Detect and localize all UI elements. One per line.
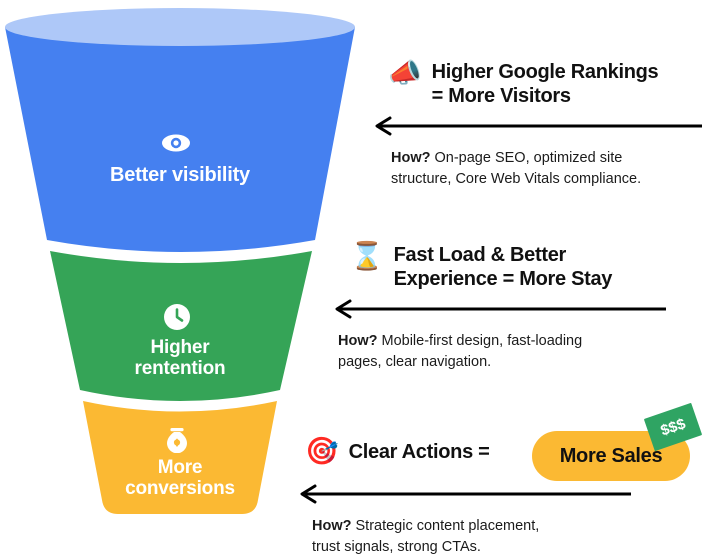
eye-icon bbox=[160, 130, 192, 156]
hourglass-icon: ⌛ bbox=[350, 243, 384, 270]
how-label-experience: How? bbox=[338, 333, 377, 349]
how-line2-sales: trust signals, strong CTAs. bbox=[312, 539, 481, 555]
stage-heading-sales-line1: Clear Actions = bbox=[349, 440, 490, 464]
stage-heading-rankings-text: Higher Google Rankings = More Visitors bbox=[432, 60, 659, 108]
stage-heading-experience: ⌛ Fast Load & Better Experience = More S… bbox=[350, 243, 612, 291]
stage-heading-experience-text: Fast Load & Better Experience = More Sta… bbox=[394, 243, 613, 291]
how-text-experience: How? Mobile-first design, fast-loading p… bbox=[338, 331, 668, 372]
arrow-left-sales bbox=[297, 484, 634, 504]
dart-target-icon: 🎯 bbox=[305, 438, 339, 465]
how-text-rankings: How? On-page SEO, optimized site structu… bbox=[391, 148, 708, 189]
stage-heading-rankings-line2: = More Visitors bbox=[432, 85, 571, 107]
stage-heading-rankings-line1: Higher Google Rankings bbox=[432, 61, 659, 83]
arrow-left-experience bbox=[332, 299, 669, 319]
arrow-left-rankings bbox=[372, 116, 704, 136]
how-label-sales: How? bbox=[312, 518, 351, 534]
funnel-top-rim bbox=[5, 8, 355, 46]
more-sales-pill-label: More Sales bbox=[560, 445, 663, 468]
clock-icon bbox=[163, 303, 191, 331]
stage-heading-sales: 🎯 Clear Actions = bbox=[305, 438, 490, 465]
megaphone-icon: 📣 bbox=[388, 60, 422, 87]
money-badge: $$$ bbox=[644, 403, 702, 451]
funnel-segment-conversions bbox=[83, 401, 277, 514]
how-line1-rankings: On-page SEO, optimized site bbox=[430, 150, 622, 166]
stage-heading-experience-line2: Experience = More Stay bbox=[394, 268, 613, 290]
how-text-sales: How? Strategic content placement, trust … bbox=[312, 516, 642, 557]
how-line2-experience: pages, clear navigation. bbox=[338, 354, 491, 370]
stage-heading-rankings: 📣 Higher Google Rankings = More Visitors bbox=[388, 60, 658, 108]
infographic-canvas: Better visibility Higher rentention More… bbox=[0, 0, 708, 557]
conversion-funnel bbox=[0, 0, 370, 557]
money-bag-icon bbox=[163, 425, 191, 453]
money-badge-label: $$$ bbox=[658, 415, 687, 439]
how-line1-experience: Mobile-first design, fast-loading bbox=[377, 333, 582, 349]
how-label-rankings: How? bbox=[391, 150, 430, 166]
how-line1-sales: Strategic content placement, bbox=[351, 518, 539, 534]
how-line2-rankings: structure, Core Web Vitals compliance. bbox=[391, 171, 641, 187]
stage-heading-experience-line1: Fast Load & Better bbox=[394, 244, 566, 266]
